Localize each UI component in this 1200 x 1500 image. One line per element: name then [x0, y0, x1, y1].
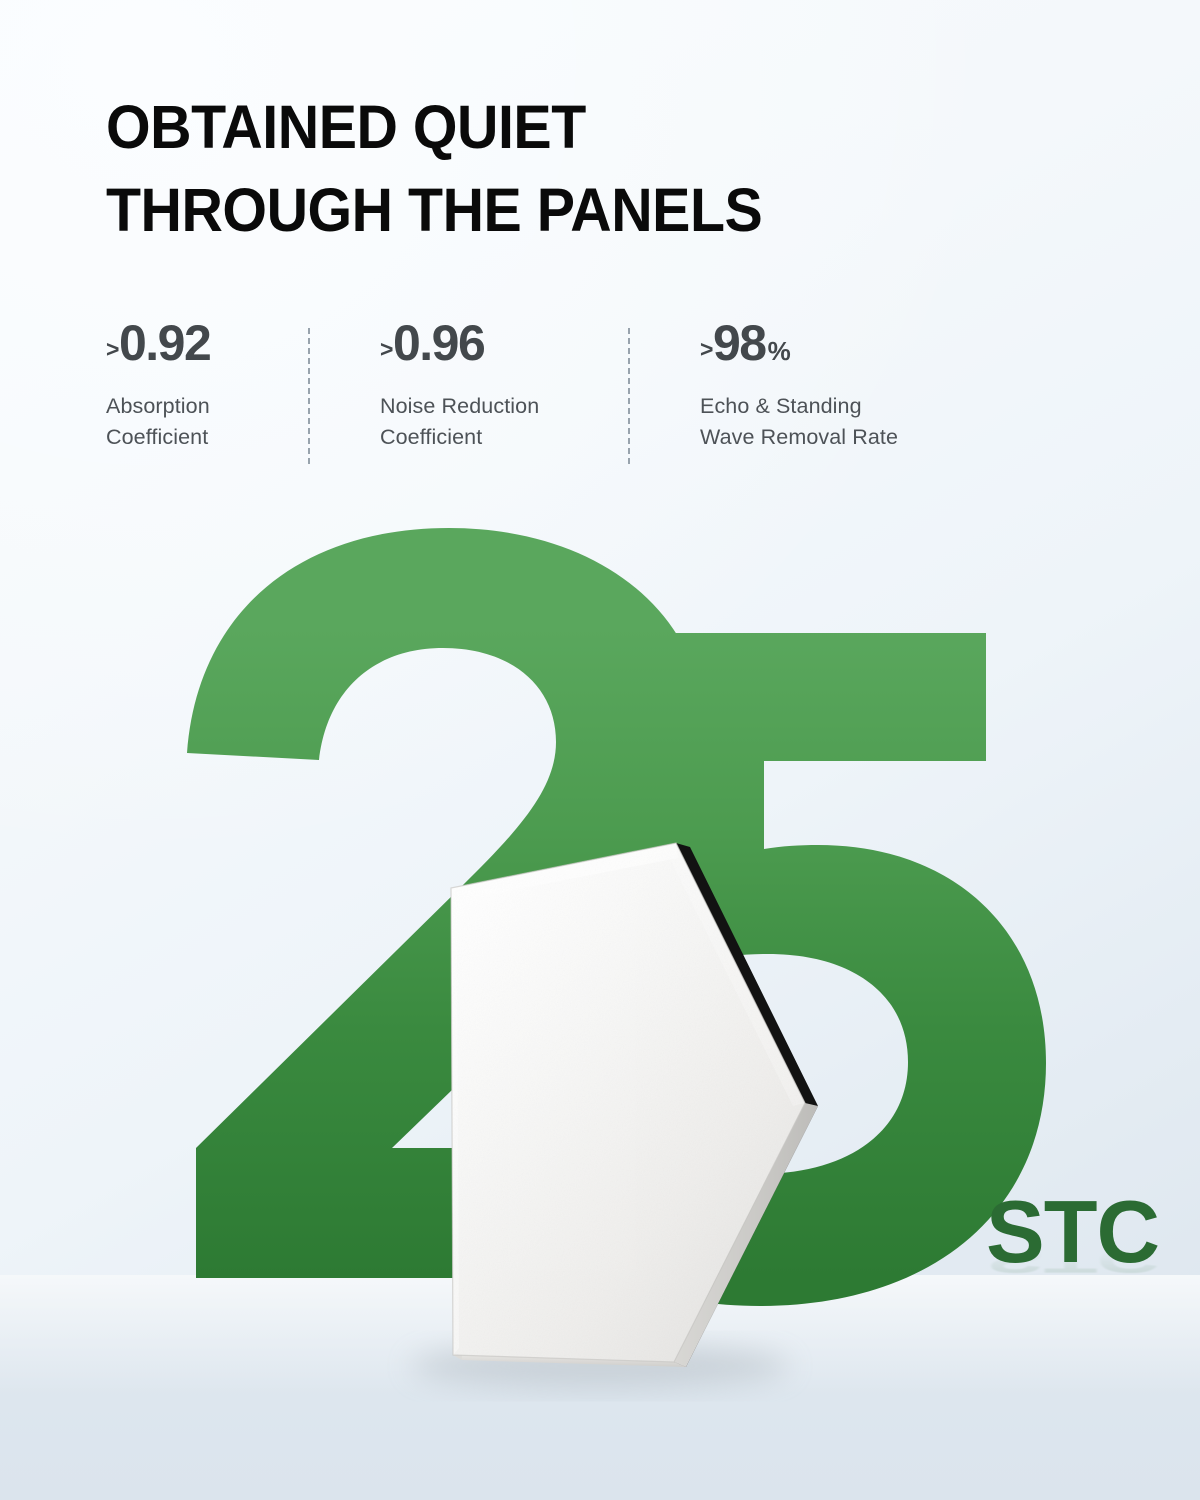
greater-than-icon: > — [380, 338, 392, 361]
greater-than-icon: > — [106, 338, 118, 361]
stat-divider — [628, 328, 630, 464]
floor-sheen — [0, 1275, 1200, 1395]
stat-value: > 0.92 — [106, 318, 212, 368]
stat-number: 0.92 — [119, 318, 210, 368]
stc-label: STC — [986, 1188, 1159, 1276]
stat-label: Noise Reduction Coefficient — [380, 391, 539, 454]
headline-line-2: THROUGH THE PANELS — [106, 169, 914, 252]
stat-label: Echo & Standing Wave Removal Rate — [700, 391, 898, 454]
stat-label: Absorption Coefficient — [106, 391, 212, 454]
floor-plane — [0, 1275, 1200, 1500]
stat-echo-removal-rate: > 98 % Echo & Standing Wave Removal Rate — [700, 318, 898, 454]
stat-label-line-2: Coefficient — [380, 422, 539, 453]
headline-line-1: OBTAINED QUIET — [106, 86, 914, 169]
poster-canvas: OBTAINED QUIET THROUGH THE PANELS > 0.92… — [0, 0, 1200, 1500]
stat-label-line-2: Coefficient — [106, 422, 212, 453]
stats-row: > 0.92 Absorption Coefficient > 0.96 Noi… — [106, 318, 986, 468]
stat-absorption-coefficient: > 0.92 Absorption Coefficient — [106, 318, 212, 454]
stat-number: 98 — [713, 318, 766, 368]
page-title: OBTAINED QUIET THROUGH THE PANELS — [106, 86, 914, 252]
stat-label-line-2: Wave Removal Rate — [700, 422, 898, 453]
stat-divider — [308, 328, 310, 464]
stat-label-line-1: Echo & Standing — [700, 391, 898, 422]
stat-noise-reduction-coefficient: > 0.96 Noise Reduction Coefficient — [380, 318, 539, 454]
stat-value: > 98 % — [700, 318, 898, 368]
stat-unit: % — [768, 338, 791, 364]
stat-label-line-1: Absorption — [106, 391, 212, 422]
stat-number: 0.96 — [393, 318, 484, 368]
stat-label-line-1: Noise Reduction — [380, 391, 539, 422]
greater-than-icon: > — [700, 338, 712, 361]
stat-value: > 0.96 — [380, 318, 539, 368]
